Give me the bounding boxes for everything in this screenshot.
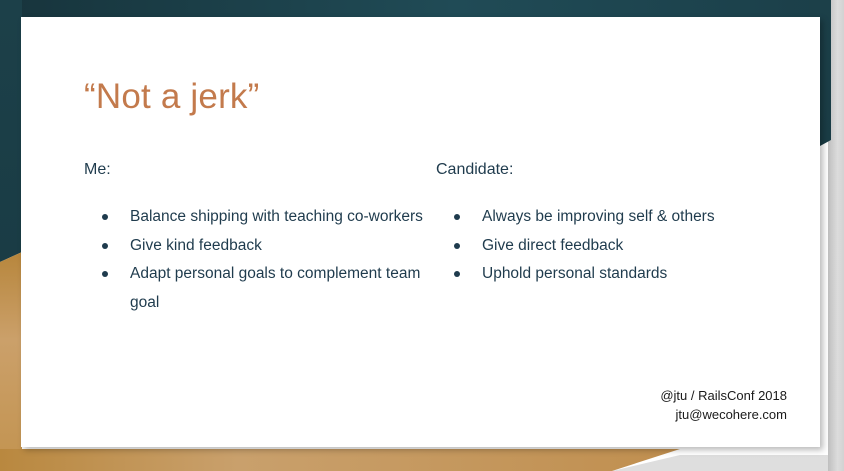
bullet-dot-icon	[102, 243, 108, 249]
slide-canvas: “Not a jerk” Me: Balance shipping with t…	[0, 0, 844, 471]
list-item-text: Uphold personal standards	[482, 265, 667, 282]
list-item: Give kind feedback	[102, 232, 436, 261]
orange-left-band	[0, 252, 22, 471]
footer-handle-conference: @jtu / RailsConf 2018	[660, 386, 787, 405]
page-title: “Not a jerk”	[84, 75, 260, 119]
list-item: Uphold personal standards	[454, 260, 788, 289]
column-candidate: Candidate: Always be improving self & ot…	[436, 159, 788, 317]
bullet-list-candidate: Always be improving self & others Give d…	[436, 203, 788, 289]
list-item-text: Always be improving self & others	[482, 208, 715, 225]
bullet-dot-icon	[102, 271, 108, 277]
list-item-text: Adapt personal goals to complement team …	[130, 265, 420, 311]
content-columns: Me: Balance shipping with teaching co-wo…	[84, 159, 794, 317]
column-me: Me: Balance shipping with teaching co-wo…	[84, 159, 436, 317]
list-item: Adapt personal goals to complement team …	[102, 260, 436, 317]
slide-card: “Not a jerk” Me: Balance shipping with t…	[21, 17, 820, 447]
bullet-list-me: Balance shipping with teaching co-worker…	[84, 203, 436, 317]
column-heading-candidate: Candidate:	[436, 159, 788, 181]
footer-email: jtu@wecohere.com	[660, 405, 787, 424]
list-item: Give direct feedback	[454, 232, 788, 261]
list-item-text: Give direct feedback	[482, 237, 623, 254]
orange-bottom-band	[0, 449, 680, 471]
list-item: Always be improving self & others	[454, 203, 788, 232]
bullet-dot-icon	[454, 243, 460, 249]
column-heading-me: Me:	[84, 159, 436, 181]
slide-footer: @jtu / RailsConf 2018 jtu@wecohere.com	[660, 386, 787, 424]
teal-left-band	[0, 0, 22, 262]
bullet-dot-icon	[102, 214, 108, 220]
list-item: Balance shipping with teaching co-worker…	[102, 203, 436, 232]
list-item-text: Give kind feedback	[130, 237, 262, 254]
list-item-text: Balance shipping with teaching co-worker…	[130, 208, 423, 225]
bullet-dot-icon	[454, 214, 460, 220]
bullet-dot-icon	[454, 271, 460, 277]
